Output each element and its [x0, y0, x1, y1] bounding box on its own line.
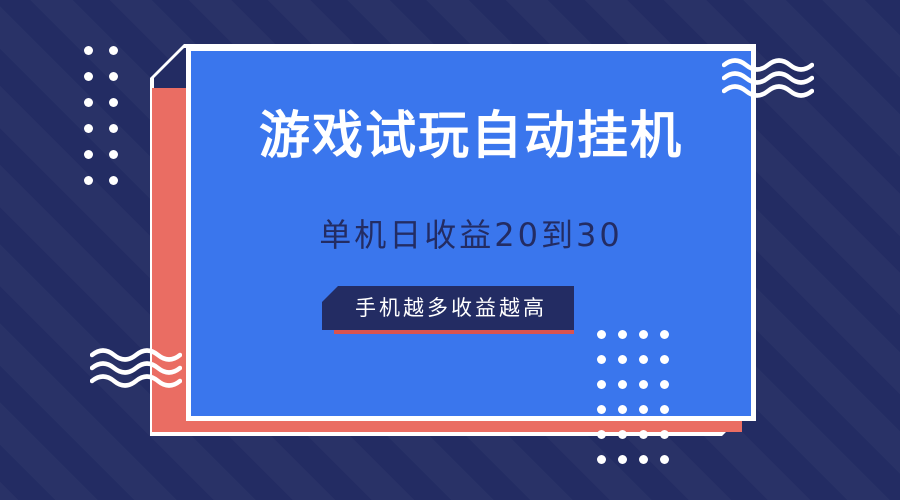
dot [109, 98, 118, 107]
dot [597, 330, 606, 339]
badge-label: 手机越多收益越高 [349, 298, 547, 319]
dot [597, 430, 606, 439]
dot [660, 355, 669, 364]
dot [597, 455, 606, 464]
badge-underline [334, 330, 574, 334]
dot [597, 380, 606, 389]
dot [109, 176, 118, 185]
dot-grid-left [84, 46, 118, 185]
dot [109, 46, 118, 55]
highlight-badge: 手机越多收益越高 [322, 286, 574, 334]
dot [660, 380, 669, 389]
dot [639, 330, 648, 339]
dot [639, 430, 648, 439]
dot [84, 46, 93, 55]
dot [84, 72, 93, 81]
dot [618, 430, 627, 439]
dot [84, 98, 93, 107]
blue-content-panel: 游戏试玩自动挂机 单机日收益20到30 [186, 46, 756, 421]
dot [618, 355, 627, 364]
poster-canvas: 游戏试玩自动挂机 单机日收益20到30 手机越多收益越高 [0, 0, 900, 500]
dot [660, 430, 669, 439]
dot [639, 405, 648, 414]
dot [597, 355, 606, 364]
dot [84, 150, 93, 159]
dot [618, 380, 627, 389]
dot [84, 176, 93, 185]
dot [660, 455, 669, 464]
dot-grid-right [597, 330, 669, 464]
dot [660, 330, 669, 339]
wave-decoration-top-right [722, 58, 814, 98]
dot [639, 380, 648, 389]
dot [660, 405, 669, 414]
dot [109, 150, 118, 159]
wave-decoration-bottom-left [90, 348, 182, 388]
dot [597, 405, 606, 414]
dot [618, 330, 627, 339]
badge-shape: 手机越多收益越高 [322, 286, 574, 330]
dot [109, 124, 118, 133]
dot [639, 455, 648, 464]
dot [618, 455, 627, 464]
dot [639, 355, 648, 364]
dot [618, 405, 627, 414]
page-subtitle: 单机日收益20到30 [191, 219, 751, 251]
dot [84, 124, 93, 133]
page-title: 游戏试玩自动挂机 [191, 111, 751, 162]
dot [109, 72, 118, 81]
